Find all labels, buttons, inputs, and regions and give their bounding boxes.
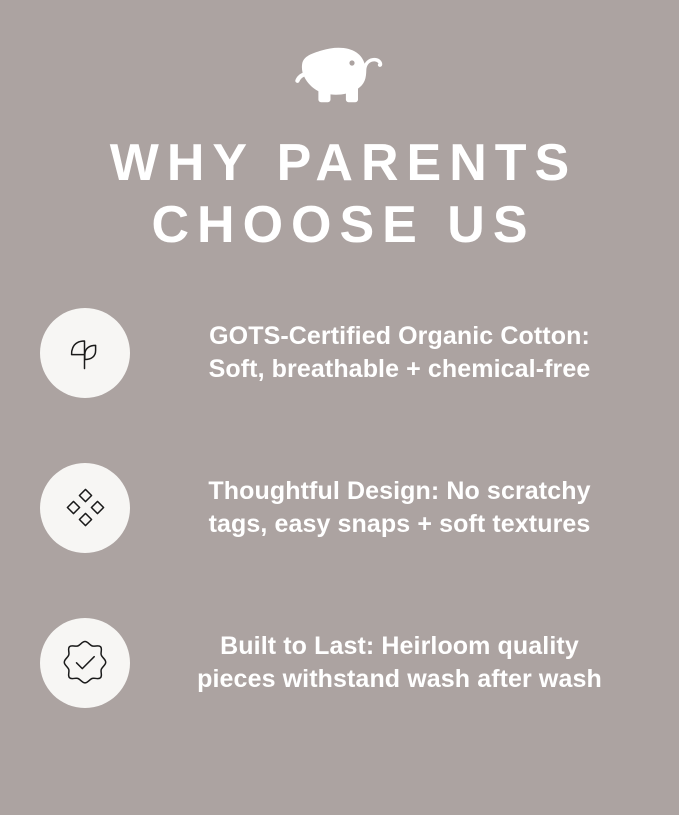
feature-icon-badge [40, 463, 130, 553]
page-title: WHY PARENTS CHOOSE US [0, 132, 679, 256]
feature-text-thoughtful-design: Thoughtful Design: No scratchy tags, eas… [130, 475, 679, 541]
feature-line-1: Thoughtful Design: No scratchy [144, 475, 655, 508]
why-parents-choose-us-panel: WHY PARENTS CHOOSE US GOTS-Certified Org… [0, 0, 679, 815]
feature-line-1: Built to Last: Heirloom quality [144, 630, 655, 663]
feature-line-2: pieces withstand wash after wash [144, 663, 655, 696]
feature-text-built-to-last: Built to Last: Heirloom quality pieces w… [130, 630, 679, 696]
sprout-icon [62, 330, 108, 376]
feature-line-2: tags, easy snaps + soft textures [144, 508, 655, 541]
feature-line-1: GOTS-Certified Organic Cotton: [144, 320, 655, 353]
feature-line-2: Soft, breathable + chemical-free [144, 353, 655, 386]
feature-text-organic-cotton: GOTS-Certified Organic Cotton: Soft, bre… [130, 320, 679, 386]
page-title-line-1: WHY PARENTS [0, 132, 679, 194]
page-title-line-2: CHOOSE US [0, 194, 679, 256]
feature-item-built-to-last: Built to Last: Heirloom quality pieces w… [0, 610, 679, 716]
feature-item-thoughtful-design: Thoughtful Design: No scratchy tags, eas… [0, 455, 679, 561]
feature-list: GOTS-Certified Organic Cotton: Soft, bre… [0, 300, 679, 716]
four-diamonds-icon [62, 485, 108, 531]
badge-check-icon [59, 637, 111, 689]
elephant-icon [290, 36, 390, 108]
feature-item-organic-cotton: GOTS-Certified Organic Cotton: Soft, bre… [0, 300, 679, 406]
feature-icon-badge [40, 618, 130, 708]
brand-logo [0, 36, 679, 108]
feature-icon-badge [40, 308, 130, 398]
